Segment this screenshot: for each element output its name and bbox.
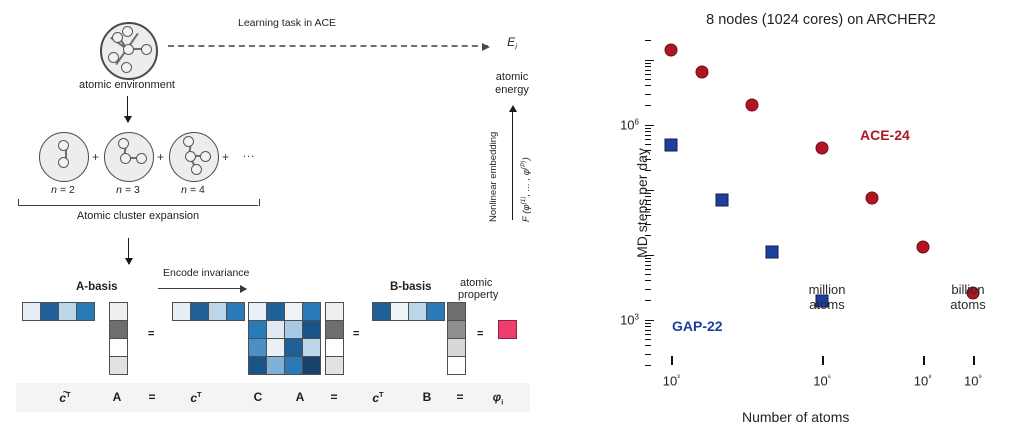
learning-task-arrow [168,45,488,47]
data-point-ace-24 [816,142,829,155]
equation-symbol: cT [372,390,383,405]
equation-row: c̃TA=cTCA=cTB=φi [16,383,530,412]
a-basis-row-vector-2 [172,302,245,321]
c-matrix-cell [303,357,320,374]
x-axis-tick [923,356,925,365]
y-axis-tick [645,74,651,75]
c-matrix-cell [249,303,266,320]
y-axis-tick [645,339,651,340]
c-matrix-cell [303,321,320,338]
equation-symbol: cT [190,390,201,405]
chart-annotation: billionatoms [950,283,985,312]
annotation-line-1: billion [950,283,985,298]
c-matrix-cell [249,357,266,374]
equation-symbol: φi [493,390,503,406]
y-axis-title: MD steps per day [634,103,650,303]
c-matrix-cell [267,339,284,356]
coeff-cell [326,321,343,338]
c-matrix [248,302,321,375]
y-axis-tick [645,94,651,95]
cluster-term-n2-label: n = 2 [51,185,75,196]
x-axis-title: Number of atoms [742,409,849,425]
left-diagram-panel: atomic environment Learning task in ACE … [0,0,600,441]
equation-symbol: = [456,390,463,404]
b-basis-label: B-basis [390,281,432,293]
y-axis-label: 103 [620,312,639,327]
y-axis-tick [645,354,651,355]
c-coeff-column-vector-2 [325,302,344,375]
atomic-energy-caption-1: atomic [496,72,528,84]
y-axis-tick [645,323,651,324]
atomic-energy-caption-2: energy [495,85,529,97]
data-point-ace-24 [916,241,929,254]
c-matrix-cell [285,321,302,338]
x-axis-label: 10⁸ [914,373,932,388]
b-basis-row-vector [372,302,445,321]
figure-root: atomic environment Learning task in ACE … [0,0,1022,441]
equation-symbol: A [296,390,305,404]
equals-sign-1: = [148,329,154,341]
y-axis-tick [645,66,651,67]
series-label-ace-24: ACE-24 [860,127,910,143]
coeff-cell [326,357,343,374]
equation-symbol: = [148,390,155,404]
b-basis-cell [391,303,408,320]
x-axis-label: 10⁹ [964,373,982,388]
cluster-term-n3-label: n = 3 [116,185,140,196]
y-axis-tick [645,334,651,335]
coeff-cell [448,339,465,356]
equals-sign-2: = [353,329,359,341]
coeff-cell [448,303,465,320]
a-basis-row-vector [22,302,95,321]
series-label-gap-22: GAP-22 [672,318,723,334]
c-matrix-cell [267,357,284,374]
a-basis-cell [227,303,244,320]
c-matrix-cell [285,357,302,374]
plus-sign-1: + [92,150,99,164]
c-matrix-cell [285,339,302,356]
y-axis-tick [645,365,651,366]
c-matrix-cell [267,303,284,320]
data-point-gap-22 [665,139,678,152]
coeff-cell [110,303,127,320]
c-matrix-cell [249,339,266,356]
a-basis-cell [173,303,190,320]
chart-annotation: millionatoms [809,283,846,312]
c-matrix-cell [303,339,320,356]
coeff-cell [448,357,465,374]
encode-invariance-label: Encode invariance [163,268,249,279]
b-basis-cell [409,303,426,320]
y-axis-tick [645,60,654,61]
nonlinear-embedding-function: F (φ(1), ... , φ(P)) [521,157,532,222]
c-matrix-cell [267,321,284,338]
equals-sign-3: = [477,329,483,341]
equation-symbol: B [423,390,432,404]
a-basis-cell [23,303,40,320]
plus-sign-2: + [157,150,164,164]
a-basis-cell [77,303,94,320]
y-axis-tick [645,320,654,321]
x-axis-tick [822,356,824,365]
c-matrix-cell [285,303,302,320]
x-axis-tick [671,356,673,365]
c-coeff-column-vector-3 [447,302,466,375]
nonlinear-embedding-arrow [512,112,513,220]
y-axis-tick [645,63,651,64]
expansion-brace [18,199,260,206]
atomic-energy-symbol: Ei [507,36,517,52]
data-point-gap-22 [715,193,728,206]
benchmark-chart-panel: 8 nodes (1024 cores) on ARCHER2 10310610… [600,0,1022,441]
atomic-property-label-1: atomic [460,278,492,290]
coeff-cell [448,321,465,338]
y-axis-tick [645,79,651,80]
expansion-ellipsis: ... [243,148,255,160]
equation-symbol: c̃T [59,390,70,405]
b-basis-cell [373,303,390,320]
y-axis-tick [645,326,651,327]
atomic-energy-subscript: i [515,42,517,51]
x-axis-label: 10³ [663,373,680,388]
data-point-gap-22 [765,245,778,258]
y-axis-tick [645,330,651,331]
a-basis-cell [59,303,76,320]
encode-invariance-arrow [158,288,246,289]
x-axis-tick [973,356,975,365]
arrow-to-expansion [127,96,128,122]
c-matrix-cell [249,321,266,338]
y-axis-tick [645,345,651,346]
annotation-line-2: atoms [950,298,985,313]
c-coeff-column-vector-1 [109,302,128,375]
annotation-line-2: atoms [809,298,846,313]
a-basis-cell [209,303,226,320]
coeff-cell [326,303,343,320]
chart-dynamic-layer: 10310610³10⁶10⁸10⁹ACE-24GAP-22millionato… [600,0,1022,441]
a-basis-label: A-basis [76,281,118,293]
data-point-ace-24 [695,65,708,78]
y-axis-tick [645,85,651,86]
a-basis-cell [191,303,208,320]
data-point-ace-24 [665,44,678,57]
atomic-environment-caption: atomic environment [79,80,175,92]
atomic-property-square [498,320,517,339]
equation-symbol: = [330,390,337,404]
coeff-cell [110,357,127,374]
arrow-to-basis [128,238,129,264]
c-matrix-cell [303,303,320,320]
b-basis-cell [427,303,444,320]
equation-symbol: A [113,390,122,404]
cluster-term-n4-label: n = 4 [181,185,205,196]
data-point-ace-24 [745,99,758,112]
atomic-property-label-2: property [458,290,498,302]
a-basis-cell [41,303,58,320]
expansion-caption: Atomic cluster expansion [77,211,199,223]
learning-task-label: Learning task in ACE [238,18,336,29]
coeff-cell [326,339,343,356]
data-point-ace-24 [866,191,879,204]
y-axis-tick [645,70,651,71]
equation-symbol: C [254,390,263,404]
y-axis-tick [645,40,651,41]
plus-sign-3: + [222,150,229,164]
annotation-line-1: million [809,283,846,298]
coeff-cell [110,321,127,338]
nonlinear-embedding-label: Nonlinear embedding [489,132,499,222]
coeff-cell [110,339,127,356]
x-axis-label: 10⁶ [813,373,831,388]
